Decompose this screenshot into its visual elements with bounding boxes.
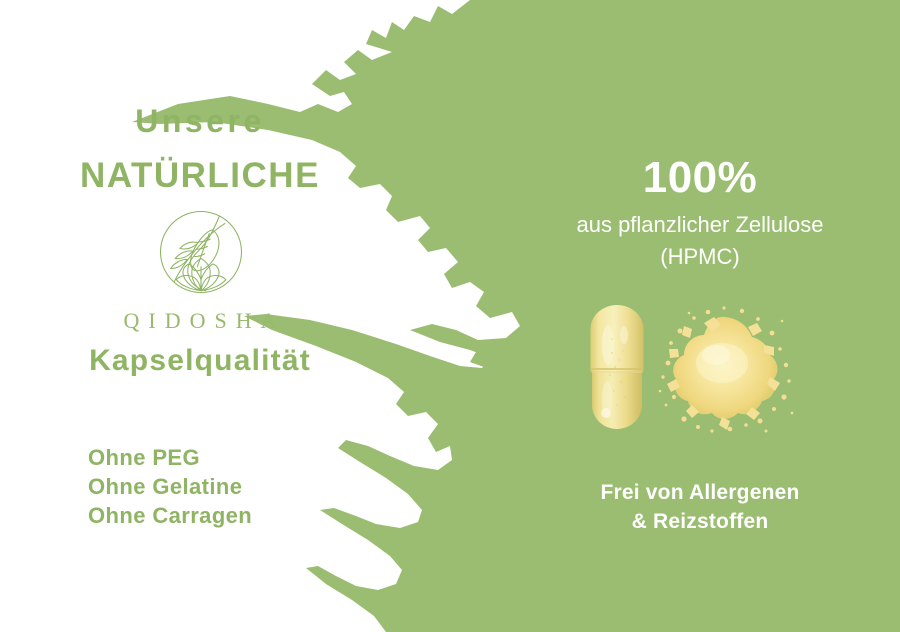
allergen-note: Frei von Allergenen & Reizstoffen bbox=[500, 478, 900, 536]
percentage-subtext: aus pflanzlicher Zellulose (HPMC) bbox=[480, 209, 900, 273]
yellow-powder-pile-image bbox=[656, 305, 796, 437]
page-subtitle: Kapselqualität bbox=[0, 344, 400, 378]
percentage-subtext-line2: (HPMC) bbox=[660, 244, 739, 269]
page-title: NATÜRLICHE bbox=[0, 156, 400, 196]
left-column: Unsere NATÜRLICHE bbox=[0, 0, 400, 632]
eyebrow-heading: Unsere bbox=[0, 103, 400, 140]
capsule-quality-infographic: Unsere NATÜRLICHE bbox=[0, 0, 900, 632]
allergen-note-line1: Frei von Allergenen bbox=[600, 481, 799, 504]
list-item: Ohne Carragen bbox=[88, 501, 252, 530]
brand-wordmark: QIDOSHA bbox=[0, 308, 400, 334]
qidosha-leaf-lotus-logo-icon bbox=[155, 206, 247, 298]
allergen-note-line2: & Reizstoffen bbox=[632, 510, 769, 533]
list-item: Ohne Gelatine bbox=[88, 472, 252, 501]
claims-list: Ohne PEG Ohne Gelatine Ohne Carragen bbox=[88, 443, 252, 530]
percentage-subtext-line1: aus pflanzlicher Zellulose bbox=[576, 212, 823, 237]
yellow-capsule-image bbox=[588, 305, 646, 429]
list-item: Ohne PEG bbox=[88, 443, 252, 472]
percentage-headline: 100% bbox=[500, 153, 900, 203]
